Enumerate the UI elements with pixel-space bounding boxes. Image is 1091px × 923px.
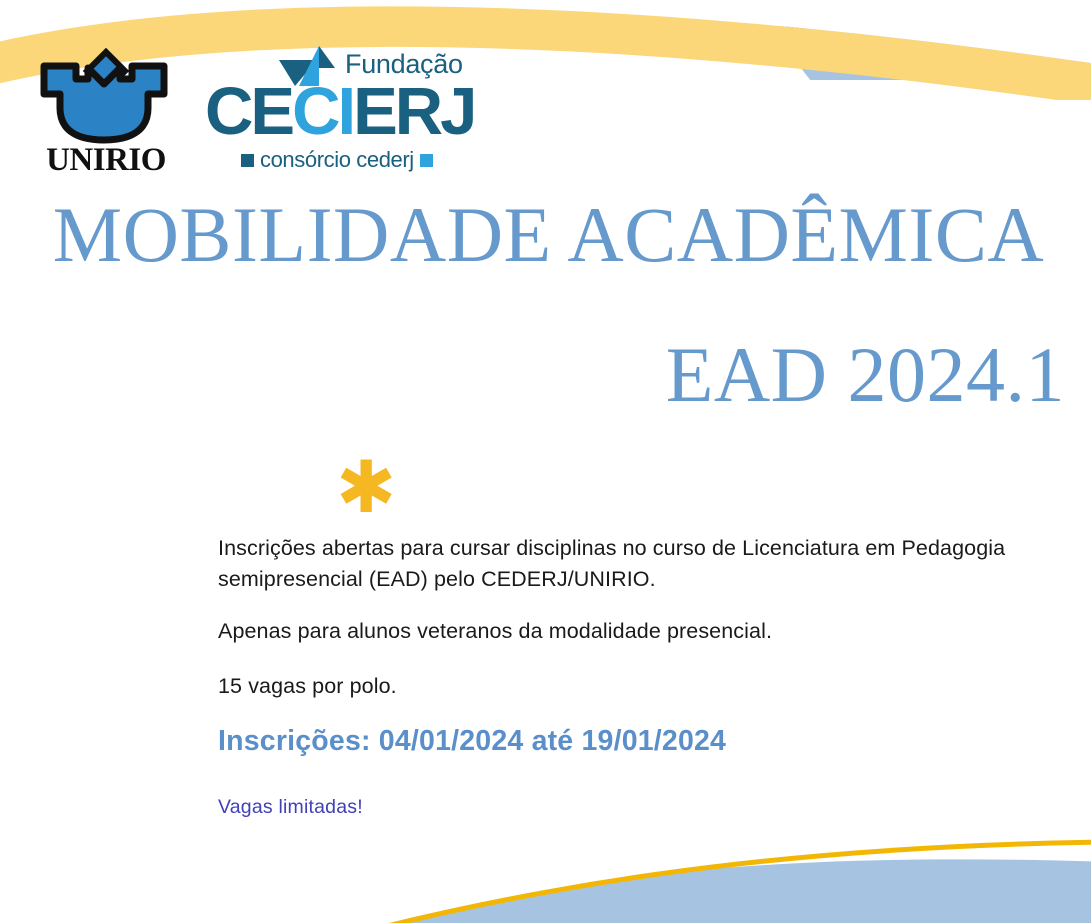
- cecierj-wordmark: CECIERJ: [205, 78, 474, 145]
- page-title-line-2: EAD 2024.1: [0, 336, 1091, 414]
- cecierj-triangle-peak: [319, 46, 335, 68]
- cecierj-tagline-row: consórcio cederj: [241, 147, 433, 173]
- bottom-wave-group: [260, 842, 1091, 923]
- title-block: MOBILIDADE ACADÊMICA EAD 2024.1: [0, 196, 1091, 414]
- cecierj-tagline: consórcio cederj: [260, 147, 414, 173]
- body-paragraph-3: 15 vagas por polo.: [218, 671, 1078, 702]
- poster-canvas: UNIRIO Fundação CECIERJ consórcio cederj…: [0, 0, 1091, 923]
- cecierj-wordmark-ci: CI: [292, 74, 353, 149]
- bottom-wave-blue: [300, 859, 1091, 923]
- square-bullet-right-icon: [420, 154, 433, 167]
- cecierj-wordmark-erj: ERJ: [353, 74, 474, 149]
- body-paragraph-1: Inscrições abertas para cursar disciplin…: [218, 533, 1078, 594]
- bottom-wave-gold-line: [260, 842, 1091, 923]
- square-bullet-left-icon: [241, 154, 254, 167]
- unirio-wordmark: UNIRIO: [26, 142, 186, 179]
- enrollment-dates: Inscrições: 04/01/2024 até 19/01/2024: [218, 725, 1078, 758]
- cecierj-logo: Fundação CECIERJ consórcio cederj: [205, 44, 460, 169]
- logo-row: UNIRIO Fundação CECIERJ consórcio cederj: [0, 44, 1091, 184]
- fan-spoke-purple: [940, 0, 1004, 38]
- body-block: Inscrições abertas para cursar disciplin…: [218, 533, 1078, 819]
- body-paragraph-2: Apenas para alunos veteranos da modalida…: [218, 616, 1078, 647]
- fan-spoke-green: [774, 0, 940, 36]
- page-title-line-1: MOBILIDADE ACADÊMICA: [0, 196, 1091, 274]
- cecierj-wordmark-ce: CE: [205, 74, 292, 149]
- asterisk-icon: ✱: [336, 452, 396, 524]
- unirio-logo: UNIRIO: [26, 46, 186, 178]
- limited-seats-note: Vagas limitadas!: [218, 796, 1078, 819]
